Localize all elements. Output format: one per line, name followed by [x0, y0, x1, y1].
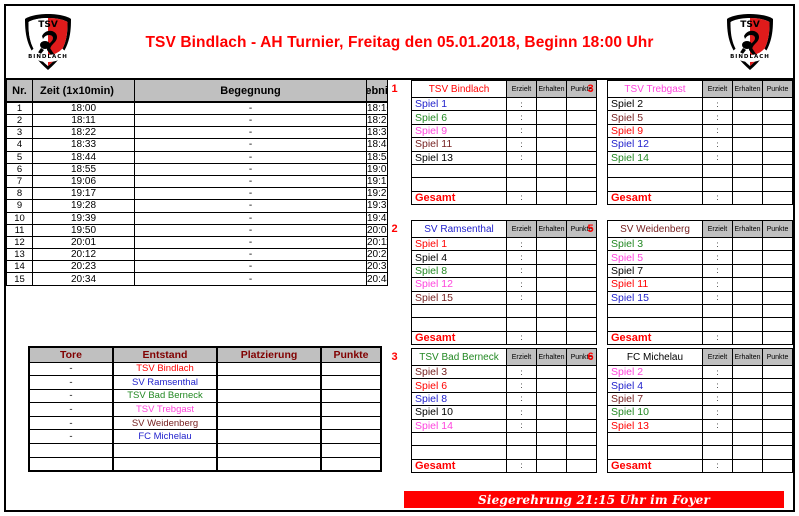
placement-cell[interactable] — [217, 403, 321, 417]
total-points[interactable] — [763, 459, 793, 472]
end-time: 20:00 — [367, 224, 388, 236]
total-conceded[interactable] — [733, 331, 763, 344]
team-name-cell: FC Michelau — [113, 430, 217, 444]
total-row: Gesamt: — [412, 459, 597, 472]
scored-cell[interactable]: : — [703, 124, 733, 137]
points-cell[interactable] — [763, 164, 793, 177]
goals-cell[interactable]: - — [29, 416, 113, 430]
row-number: 3 — [7, 127, 33, 139]
start-time: 18:00 — [33, 102, 135, 115]
conceded-cell[interactable] — [733, 178, 763, 191]
goals-cell[interactable]: - — [29, 403, 113, 417]
scored-cell[interactable]: : — [703, 419, 733, 432]
conceded-cell[interactable] — [733, 238, 763, 251]
points-cell[interactable] — [763, 432, 793, 445]
total-points[interactable] — [763, 331, 793, 344]
game-label — [608, 432, 703, 445]
points-cell[interactable] — [763, 124, 793, 137]
panel-team-name: SV Ramsenthal — [412, 221, 507, 238]
time-separator: - — [135, 236, 367, 248]
table-row: 1420:23-20:33TSV Bad Berneck-TSV Trebgas… — [7, 261, 388, 273]
points-cell[interactable] — [567, 318, 597, 331]
placement-cell[interactable] — [217, 362, 321, 376]
total-scored[interactable]: : — [507, 191, 537, 204]
game-label: Spiel 4 — [608, 379, 703, 392]
time-separator: - — [135, 261, 367, 273]
game-label — [608, 164, 703, 177]
conceded-cell[interactable] — [733, 419, 763, 432]
svg-text:TSV: TSV — [740, 20, 760, 30]
column-erzielt: Erzielt — [703, 221, 733, 238]
scored-cell[interactable] — [507, 446, 537, 459]
points-cell[interactable] — [763, 406, 793, 419]
conceded-cell[interactable] — [733, 264, 763, 277]
header-nr: Nr. — [7, 80, 33, 102]
scored-cell[interactable] — [507, 304, 537, 317]
scored-cell[interactable]: : — [703, 291, 733, 304]
game-label: Spiel 3 — [412, 366, 507, 379]
conceded-cell[interactable] — [537, 238, 567, 251]
game-label — [608, 446, 703, 459]
game-label: Spiel 13 — [608, 419, 703, 432]
scored-cell[interactable]: : — [703, 366, 733, 379]
points-cell[interactable] — [567, 278, 597, 291]
scored-cell[interactable]: : — [703, 264, 733, 277]
total-scored[interactable]: : — [703, 459, 733, 472]
scored-cell[interactable] — [703, 304, 733, 317]
game-label: Spiel 7 — [608, 264, 703, 277]
conceded-cell[interactable] — [733, 278, 763, 291]
scored-cell[interactable]: : — [507, 406, 537, 419]
panel-index: 1 — [389, 83, 400, 95]
goals-cell[interactable]: - — [29, 389, 113, 403]
column-erhalten: Erhalten — [537, 349, 567, 366]
points-cell[interactable] — [567, 446, 597, 459]
placement-cell[interactable] — [217, 457, 321, 471]
list-item: Spiel 6: — [412, 379, 597, 392]
placement-cell[interactable] — [217, 416, 321, 430]
conceded-cell[interactable] — [537, 251, 567, 264]
points-cell[interactable] — [763, 318, 793, 331]
column-erhalten: Erhalten — [733, 349, 763, 366]
points-cell[interactable] — [567, 138, 597, 151]
total-label: Gesamt — [412, 459, 507, 472]
scored-cell[interactable]: : — [703, 98, 733, 111]
scored-cell[interactable]: : — [703, 151, 733, 164]
panel-index: 3 — [585, 83, 596, 95]
scored-cell[interactable] — [507, 164, 537, 177]
points-cell[interactable] — [567, 98, 597, 111]
team-name-cell: TSV Trebgast — [113, 403, 217, 417]
total-scored[interactable]: : — [507, 459, 537, 472]
page-title: TSV Bindlach - AH Turnier, Freitag den 0… — [6, 6, 793, 80]
total-points[interactable] — [567, 459, 597, 472]
scored-cell[interactable]: : — [507, 151, 537, 164]
goals-cell[interactable] — [29, 444, 113, 458]
panel-header-row: SV RamsenthalErzieltErhaltenPunkte — [412, 221, 597, 238]
list-item: Spiel 13: — [608, 419, 793, 432]
conceded-cell[interactable] — [733, 366, 763, 379]
points-cell[interactable] — [567, 304, 597, 317]
game-label: Spiel 5 — [608, 251, 703, 264]
points-cell[interactable] — [567, 291, 597, 304]
points-cell[interactable] — [567, 419, 597, 432]
column-punkte: Punkte — [763, 81, 793, 98]
total-scored[interactable]: : — [507, 331, 537, 344]
header-tore: Tore — [29, 347, 113, 362]
start-time: 20:01 — [33, 236, 135, 248]
conceded-cell[interactable] — [537, 291, 567, 304]
list-item: Spiel 4: — [412, 251, 597, 264]
points-cell[interactable] — [763, 251, 793, 264]
end-time: 20:44 — [367, 273, 388, 285]
total-conceded[interactable] — [733, 459, 763, 472]
points-cell[interactable] — [321, 444, 381, 458]
game-label — [608, 178, 703, 191]
panel-header-row: TSV TrebgastErzieltErhaltenPunkte — [608, 81, 793, 98]
points-cell[interactable] — [763, 366, 793, 379]
table-row: 618:55-19:05TSV Bindlach-TSV Bad Berneck… — [7, 163, 388, 175]
points-cell[interactable] — [567, 164, 597, 177]
points-cell[interactable] — [763, 111, 793, 124]
scored-cell[interactable]: : — [507, 419, 537, 432]
panel-index: 3 — [389, 351, 400, 363]
game-label — [412, 446, 507, 459]
points-cell[interactable] — [567, 379, 597, 392]
points-cell[interactable] — [763, 446, 793, 459]
points-cell[interactable] — [763, 291, 793, 304]
row-number: 10 — [7, 212, 33, 224]
total-row: Gesamt: — [412, 331, 597, 344]
placement-cell[interactable] — [217, 444, 321, 458]
scored-cell[interactable]: : — [507, 291, 537, 304]
column-erzielt: Erzielt — [507, 221, 537, 238]
scored-cell[interactable]: : — [507, 264, 537, 277]
conceded-cell[interactable] — [733, 138, 763, 151]
game-label — [412, 304, 507, 317]
points-cell[interactable] — [567, 251, 597, 264]
conceded-cell[interactable] — [733, 124, 763, 137]
list-item: Spiel 11: — [608, 278, 793, 291]
points-cell[interactable] — [567, 178, 597, 191]
conceded-cell[interactable] — [537, 264, 567, 277]
header-platzierung: Platzierung — [217, 347, 321, 362]
header-punkte: Punkte — [321, 347, 381, 362]
scored-cell[interactable]: : — [507, 392, 537, 405]
table-row: 819:17-19:27SV Ramsenthal-TSV Bad Bernec… — [7, 188, 388, 200]
tournament-sheet: TSV BINDLACH TSV Bindlach - AH Turnier, … — [0, 0, 799, 516]
points-cell[interactable] — [567, 432, 597, 445]
list-item: Spiel 15: — [608, 291, 793, 304]
end-time: 18:54 — [367, 151, 388, 163]
scored-cell[interactable]: : — [507, 379, 537, 392]
time-separator: - — [135, 139, 367, 151]
conceded-cell[interactable] — [537, 379, 567, 392]
time-separator: - — [135, 224, 367, 236]
total-points[interactable] — [567, 331, 597, 344]
points-cell[interactable] — [567, 124, 597, 137]
points-cell[interactable] — [763, 392, 793, 405]
points-cell[interactable] — [321, 389, 381, 403]
conceded-cell[interactable] — [537, 392, 567, 405]
team-name-cell — [113, 457, 217, 471]
scored-cell[interactable]: : — [507, 278, 537, 291]
scored-cell[interactable]: : — [703, 278, 733, 291]
points-cell[interactable] — [763, 178, 793, 191]
points-cell[interactable] — [763, 379, 793, 392]
conceded-cell[interactable] — [733, 392, 763, 405]
list-item: Spiel 3: — [608, 238, 793, 251]
total-scored[interactable]: : — [703, 191, 733, 204]
table-row: 118:00-18:10TSV Bindlach-SV Ramsenthal: — [7, 102, 388, 115]
conceded-cell[interactable] — [733, 111, 763, 124]
total-row: Gesamt: — [608, 331, 793, 344]
total-row: Gesamt: — [608, 191, 793, 204]
team-panel-table: TSV TrebgastErzieltErhaltenPunkteSpiel 2… — [607, 80, 793, 205]
panel-header-row: TSV BindlachErzieltErhaltenPunkte — [412, 81, 597, 98]
game-label: Spiel 13 — [412, 151, 507, 164]
points-cell[interactable] — [763, 419, 793, 432]
start-time: 20:12 — [33, 249, 135, 261]
conceded-cell[interactable] — [537, 138, 567, 151]
list-item: Spiel 8: — [412, 392, 597, 405]
conceded-cell[interactable] — [537, 98, 567, 111]
team-panel: 2SV RamsenthalErzieltErhaltenPunkteSpiel… — [400, 220, 596, 345]
end-time: 18:43 — [367, 139, 388, 151]
time-separator: - — [135, 163, 367, 175]
points-cell[interactable] — [763, 138, 793, 151]
total-label: Gesamt — [412, 331, 507, 344]
points-cell[interactable] — [763, 98, 793, 111]
table-row: -FC Michelau — [29, 430, 381, 444]
list-item: Spiel 2: — [608, 98, 793, 111]
list-item: Spiel 10: — [608, 406, 793, 419]
team-panel-table: FC MichelauErzieltErhaltenPunkteSpiel 2:… — [607, 348, 793, 473]
row-number: 14 — [7, 261, 33, 273]
game-label: Spiel 15 — [608, 291, 703, 304]
points-cell[interactable] — [321, 416, 381, 430]
game-label: Spiel 12 — [412, 278, 507, 291]
conceded-cell[interactable] — [733, 164, 763, 177]
conceded-cell[interactable] — [537, 366, 567, 379]
placement-cell[interactable] — [217, 389, 321, 403]
placement-cell[interactable] — [217, 430, 321, 444]
start-time: 18:22 — [33, 127, 135, 139]
points-cell[interactable] — [321, 376, 381, 390]
end-time: 18:32 — [367, 127, 388, 139]
total-scored[interactable]: : — [703, 331, 733, 344]
conceded-cell[interactable] — [537, 124, 567, 137]
conceded-cell[interactable] — [537, 278, 567, 291]
scored-cell[interactable]: : — [507, 98, 537, 111]
game-label: Spiel 10 — [412, 406, 507, 419]
table-row: 1320:12-20:22TSV Bindlach-FC Michelau: — [7, 249, 388, 261]
match-schedule-table: Nr. Zeit (1x10min) Begegnung Ergebnis 11… — [6, 80, 388, 286]
placement-cell[interactable] — [217, 376, 321, 390]
points-cell[interactable] — [567, 111, 597, 124]
list-item: Spiel 13: — [412, 151, 597, 164]
conceded-cell[interactable] — [537, 432, 567, 445]
team-panel: 3TSV Bad BerneckErzieltErhaltenPunkteSpi… — [400, 348, 596, 473]
conceded-cell[interactable] — [537, 304, 567, 317]
game-label: Spiel 10 — [608, 406, 703, 419]
points-cell[interactable] — [567, 264, 597, 277]
scored-cell[interactable]: : — [703, 406, 733, 419]
team-panel-table: SV RamsenthalErzieltErhaltenPunkteSpiel … — [411, 220, 597, 345]
conceded-cell[interactable] — [733, 446, 763, 459]
panel-index: 5 — [585, 223, 596, 235]
scored-cell[interactable]: : — [703, 111, 733, 124]
list-item — [412, 446, 597, 459]
scored-cell[interactable]: : — [507, 111, 537, 124]
scored-cell[interactable]: : — [703, 392, 733, 405]
team-panel-table: TSV BindlachErzieltErhaltenPunkteSpiel 1… — [411, 80, 597, 205]
conceded-cell[interactable] — [537, 446, 567, 459]
total-points[interactable] — [567, 191, 597, 204]
award-ceremony-banner: Siegerehrung 21:15 Uhr im Foyer — [404, 491, 784, 508]
scored-cell[interactable] — [703, 446, 733, 459]
schedule-header-row: Nr. Zeit (1x10min) Begegnung Ergebnis — [7, 80, 388, 102]
scored-cell[interactable] — [507, 432, 537, 445]
points-cell[interactable] — [321, 457, 381, 471]
points-cell[interactable] — [321, 403, 381, 417]
goals-cell[interactable] — [29, 457, 113, 471]
row-number: 7 — [7, 175, 33, 187]
points-cell[interactable] — [763, 238, 793, 251]
scored-cell[interactable]: : — [703, 251, 733, 264]
points-cell[interactable] — [763, 151, 793, 164]
team-panel-table: SV WeidenbergErzieltErhaltenPunkteSpiel … — [607, 220, 793, 345]
scored-cell[interactable]: : — [703, 138, 733, 151]
scored-cell[interactable]: : — [507, 238, 537, 251]
list-item: Spiel 1: — [412, 98, 597, 111]
conceded-cell[interactable] — [733, 304, 763, 317]
header: TSV BINDLACH TSV Bindlach - AH Turnier, … — [6, 6, 793, 80]
points-cell[interactable] — [567, 238, 597, 251]
scored-cell[interactable]: : — [703, 379, 733, 392]
end-time: 19:27 — [367, 188, 388, 200]
row-number: 4 — [7, 139, 33, 151]
table-row: 1220:01-20:11SV Ramsenthal-TSV Trebgast: — [7, 236, 388, 248]
goals-cell[interactable]: - — [29, 376, 113, 390]
list-item: Spiel 14: — [412, 419, 597, 432]
start-time: 20:23 — [33, 261, 135, 273]
scored-cell[interactable] — [507, 178, 537, 191]
start-time: 20:34 — [33, 273, 135, 285]
table-row: 1019:39-19:49FC Michelau-TSV Bad Berneck… — [7, 212, 388, 224]
game-label — [412, 178, 507, 191]
row-number: 1 — [7, 102, 33, 115]
points-cell[interactable] — [321, 362, 381, 376]
header-ergebnis: Ergebnis — [367, 80, 388, 102]
total-conceded[interactable] — [733, 191, 763, 204]
conceded-cell[interactable] — [537, 419, 567, 432]
scored-cell[interactable]: : — [703, 238, 733, 251]
points-cell[interactable] — [567, 366, 597, 379]
panel-index: 6 — [585, 351, 596, 363]
total-row: Gesamt: — [608, 459, 793, 472]
points-cell[interactable] — [321, 430, 381, 444]
scored-cell[interactable] — [507, 318, 537, 331]
conceded-cell[interactable] — [733, 291, 763, 304]
team-name-cell: SV Weidenberg — [113, 416, 217, 430]
table-row: 719:06-19:16FC Michelau-SV Weidenberg: — [7, 175, 388, 187]
conceded-cell[interactable] — [733, 151, 763, 164]
total-points[interactable] — [763, 191, 793, 204]
table-row: -SV Ramsenthal — [29, 376, 381, 390]
table-row: 218:11-18:21FC Michelau-TSV Trebgast: — [7, 115, 388, 127]
conceded-cell[interactable] — [733, 379, 763, 392]
list-item — [608, 178, 793, 191]
points-cell[interactable] — [763, 304, 793, 317]
column-erhalten: Erhalten — [537, 221, 567, 238]
column-erhalten: Erhalten — [733, 221, 763, 238]
list-item: Spiel 9: — [608, 124, 793, 137]
scored-cell[interactable]: : — [507, 251, 537, 264]
total-conceded[interactable] — [537, 459, 567, 472]
panel-header-row: SV WeidenbergErzieltErhaltenPunkte — [608, 221, 793, 238]
conceded-cell[interactable] — [537, 111, 567, 124]
conceded-cell[interactable] — [733, 98, 763, 111]
game-label — [412, 432, 507, 445]
game-label: Spiel 15 — [412, 291, 507, 304]
goals-cell[interactable]: - — [29, 362, 113, 376]
end-time: 19:16 — [367, 175, 388, 187]
team-name-cell: SV Ramsenthal — [113, 376, 217, 390]
conceded-cell[interactable] — [537, 164, 567, 177]
team-panel: 1TSV BindlachErzieltErhaltenPunkteSpiel … — [400, 80, 596, 205]
end-time: 20:22 — [367, 249, 388, 261]
conceded-cell[interactable] — [733, 432, 763, 445]
row-number: 12 — [7, 236, 33, 248]
conceded-cell[interactable] — [537, 318, 567, 331]
column-erzielt: Erzielt — [507, 81, 537, 98]
conceded-cell[interactable] — [537, 178, 567, 191]
game-label — [608, 304, 703, 317]
end-time: 20:11 — [367, 236, 388, 248]
goals-cell[interactable]: - — [29, 430, 113, 444]
scored-cell[interactable] — [703, 432, 733, 445]
conceded-cell[interactable] — [733, 251, 763, 264]
scored-cell[interactable] — [703, 318, 733, 331]
scored-cell[interactable]: : — [507, 366, 537, 379]
team-panel: 5SV WeidenbergErzieltErhaltenPunkteSpiel… — [596, 220, 792, 345]
time-separator: - — [135, 175, 367, 187]
points-cell[interactable] — [763, 264, 793, 277]
points-cell[interactable] — [567, 151, 597, 164]
total-conceded[interactable] — [537, 191, 567, 204]
points-cell[interactable] — [567, 406, 597, 419]
scored-cell[interactable]: : — [507, 138, 537, 151]
list-item: Spiel 8: — [412, 264, 597, 277]
conceded-cell[interactable] — [733, 318, 763, 331]
column-erhalten: Erhalten — [733, 81, 763, 98]
conceded-cell[interactable] — [733, 406, 763, 419]
points-cell[interactable] — [567, 392, 597, 405]
total-label: Gesamt — [608, 459, 703, 472]
conceded-cell[interactable] — [537, 406, 567, 419]
scored-cell[interactable] — [703, 164, 733, 177]
scored-cell[interactable] — [703, 178, 733, 191]
scored-cell[interactable]: : — [507, 124, 537, 137]
table-row: 919:28-19:38TSV Bindlach-TSV Trebgast: — [7, 200, 388, 212]
list-item: Spiel 7: — [608, 392, 793, 405]
conceded-cell[interactable] — [537, 151, 567, 164]
list-item — [608, 432, 793, 445]
total-conceded[interactable] — [537, 331, 567, 344]
points-cell[interactable] — [763, 278, 793, 291]
game-label: Spiel 11 — [608, 278, 703, 291]
